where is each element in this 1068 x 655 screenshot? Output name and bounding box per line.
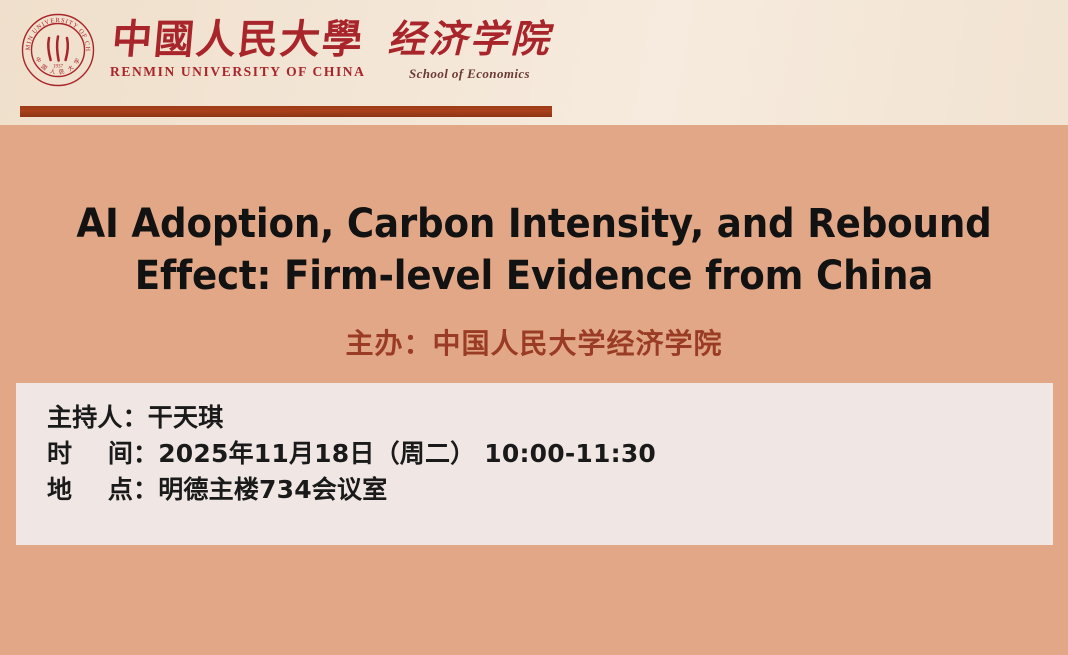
svg-text:RENMIN UNIVERSITY OF CHINA: RENMIN UNIVERSITY OF CHINA bbox=[20, 12, 91, 52]
university-name-en: RENMIN UNIVERSITY OF CHINA bbox=[110, 64, 366, 80]
university-seal-icon: RENMIN UNIVERSITY OF CHINA 中 国 人 民 大 学 1… bbox=[20, 12, 96, 88]
detail-time: 时 间：2025年11月18日（周二） 10:00-11:30 bbox=[47, 436, 656, 472]
school-name-group: 经济学院 School of Economics bbox=[388, 20, 552, 81]
university-name-group: 中國人民大學 RENMIN UNIVERSITY OF CHINA bbox=[110, 18, 366, 79]
detail-venue: 地 点：明德主楼734会议室 bbox=[47, 472, 656, 508]
header-divider-rule bbox=[20, 106, 552, 117]
svg-text:1937: 1937 bbox=[53, 65, 64, 70]
seminar-poster: RENMIN UNIVERSITY OF CHINA 中 国 人 民 大 学 1… bbox=[0, 0, 1068, 655]
university-name-cn: 中國人民大學 bbox=[110, 18, 366, 61]
organizer-subtitle: 主办：中国人民大学经济学院 bbox=[0, 326, 1068, 362]
detail-host: 主持人：干天琪 bbox=[47, 400, 656, 436]
page-title: AI Adoption, Carbon Intensity, and Rebou… bbox=[0, 198, 1068, 302]
event-details-panel: 主持人：干天琪 时 间：2025年11月18日（周二） 10:00-11:30 … bbox=[16, 383, 1053, 545]
header-banner: RENMIN UNIVERSITY OF CHINA 中 国 人 民 大 学 1… bbox=[0, 0, 1068, 125]
masthead-names: 中國人民大學 RENMIN UNIVERSITY OF CHINA 经济学院 S… bbox=[110, 18, 552, 81]
event-details-list: 主持人：干天琪 时 间：2025年11月18日（周二） 10:00-11:30 … bbox=[47, 400, 656, 508]
title-line-1: AI Adoption, Carbon Intensity, and Rebou… bbox=[37, 198, 1030, 250]
title-line-2: Effect: Firm-level Evidence from China bbox=[37, 250, 1030, 302]
school-name-en: School of Economics bbox=[409, 66, 530, 82]
school-name-cn: 经济学院 bbox=[388, 20, 552, 61]
masthead: RENMIN UNIVERSITY OF CHINA 中 国 人 民 大 学 1… bbox=[20, 12, 552, 88]
